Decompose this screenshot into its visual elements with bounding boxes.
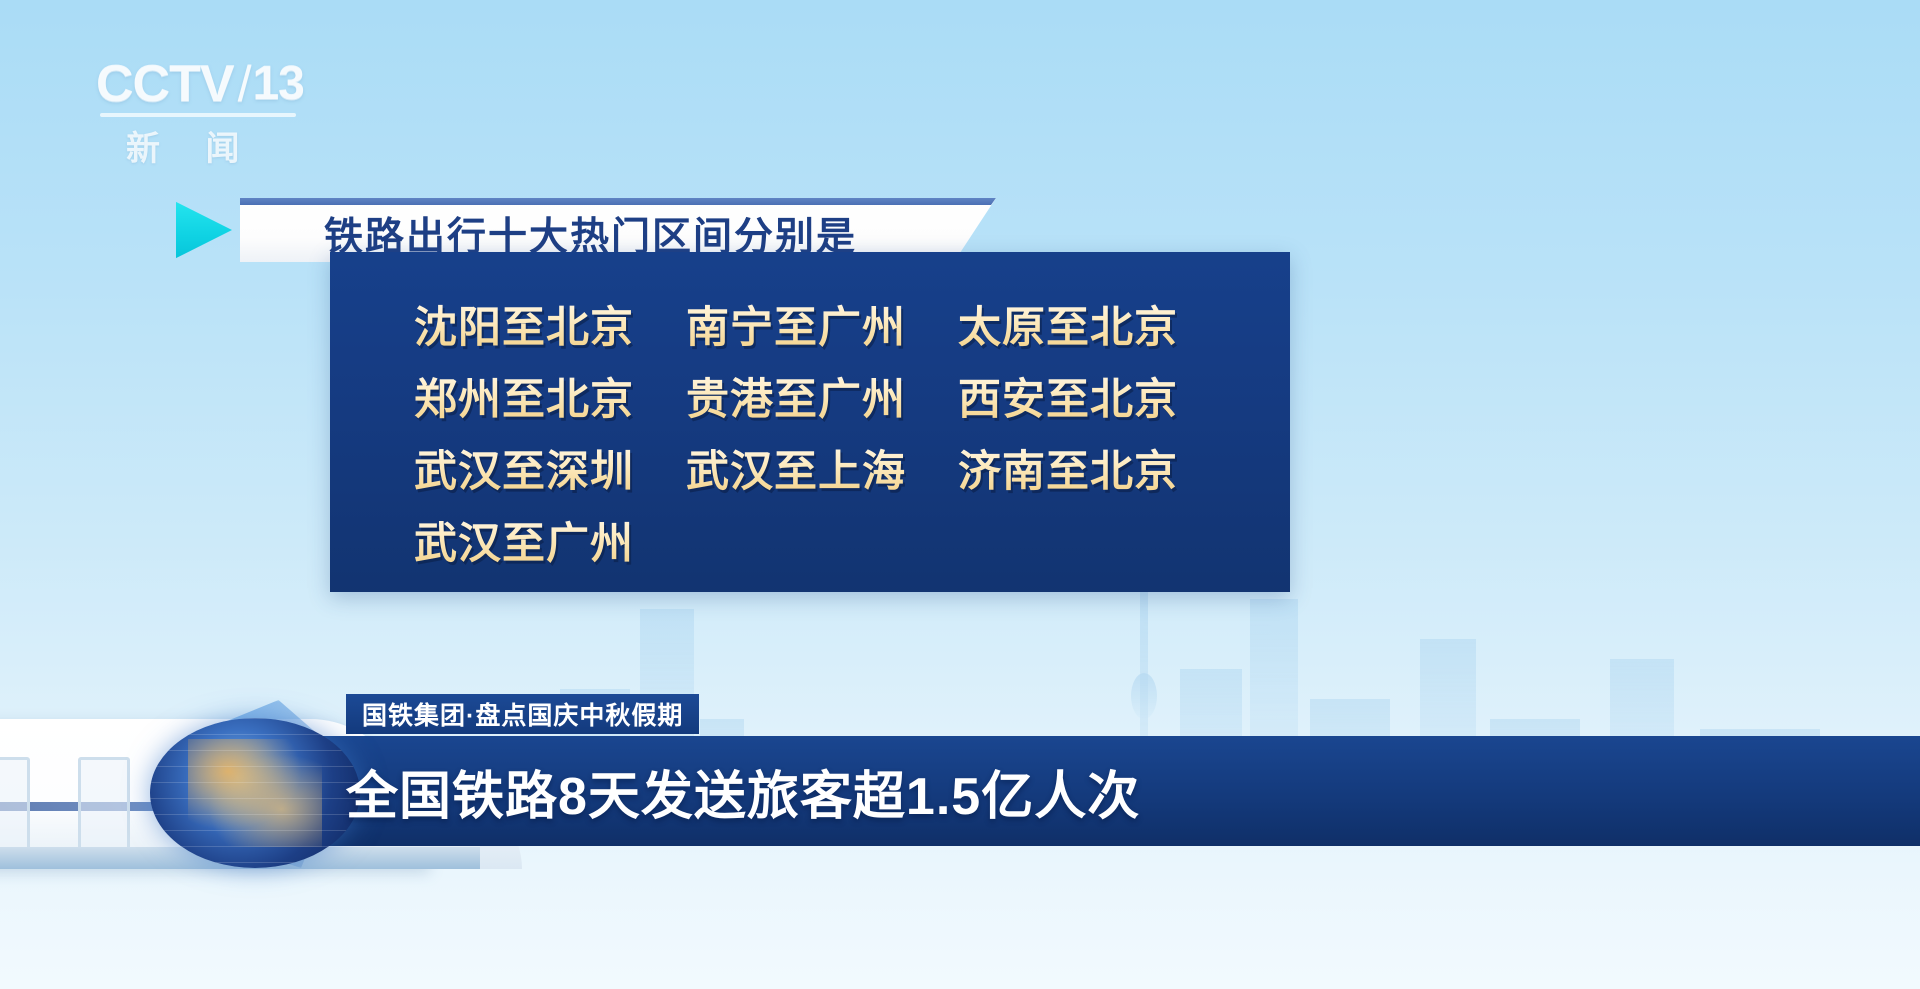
list-row: 郑州至北京 贵港至广州 西安至北京 (414, 360, 1290, 432)
list-row: 武汉至广州 (414, 504, 1290, 576)
logo-slash: / (238, 59, 251, 109)
logo-network-name: CCTV (96, 58, 234, 110)
logo-channel-number: 13 (252, 60, 303, 108)
list-item: 南宁至广州 (686, 293, 958, 355)
list-item: 贵港至广州 (686, 365, 958, 427)
list-item: 沈阳至北京 (414, 293, 686, 355)
lower-third-kicker: 国铁集团·盘点国庆中秋假期 (346, 694, 699, 734)
cctv13-logo: CCTV / 13 新 闻 (96, 58, 326, 168)
list-item: 济南至北京 (958, 437, 1230, 499)
play-triangle-icon (176, 198, 232, 262)
list-item: 武汉至深圳 (414, 437, 686, 499)
list-item: 西安至北京 (958, 365, 1230, 427)
header-topbar (240, 198, 996, 205)
list-item: 郑州至北京 (414, 365, 686, 427)
logo-underline (100, 113, 296, 117)
lower-third-headline: 全国铁路8天发送旅客超1.5亿人次 (346, 742, 1140, 840)
list-item: 武汉至上海 (686, 437, 958, 499)
broadcast-frame: CCTV / 13 新 闻 铁路出行十大热门区间分别是 沈阳至北京 南宁至广州 … (0, 0, 1920, 989)
logo-subtitle: 新 闻 (126, 121, 326, 170)
route-list: 沈阳至北京 南宁至广州 太原至北京 郑州至北京 贵港至广州 西安至北京 武汉至深… (330, 252, 1290, 576)
list-item: 太原至北京 (958, 293, 1230, 355)
list-row: 沈阳至北京 南宁至广州 太原至北京 (414, 288, 1290, 360)
list-item: 武汉至广州 (414, 509, 686, 571)
route-list-panel: 沈阳至北京 南宁至广州 太原至北京 郑州至北京 贵港至广州 西安至北京 武汉至深… (330, 252, 1290, 592)
list-row: 武汉至深圳 武汉至上海 济南至北京 (414, 432, 1290, 504)
globe-icon (150, 718, 360, 868)
